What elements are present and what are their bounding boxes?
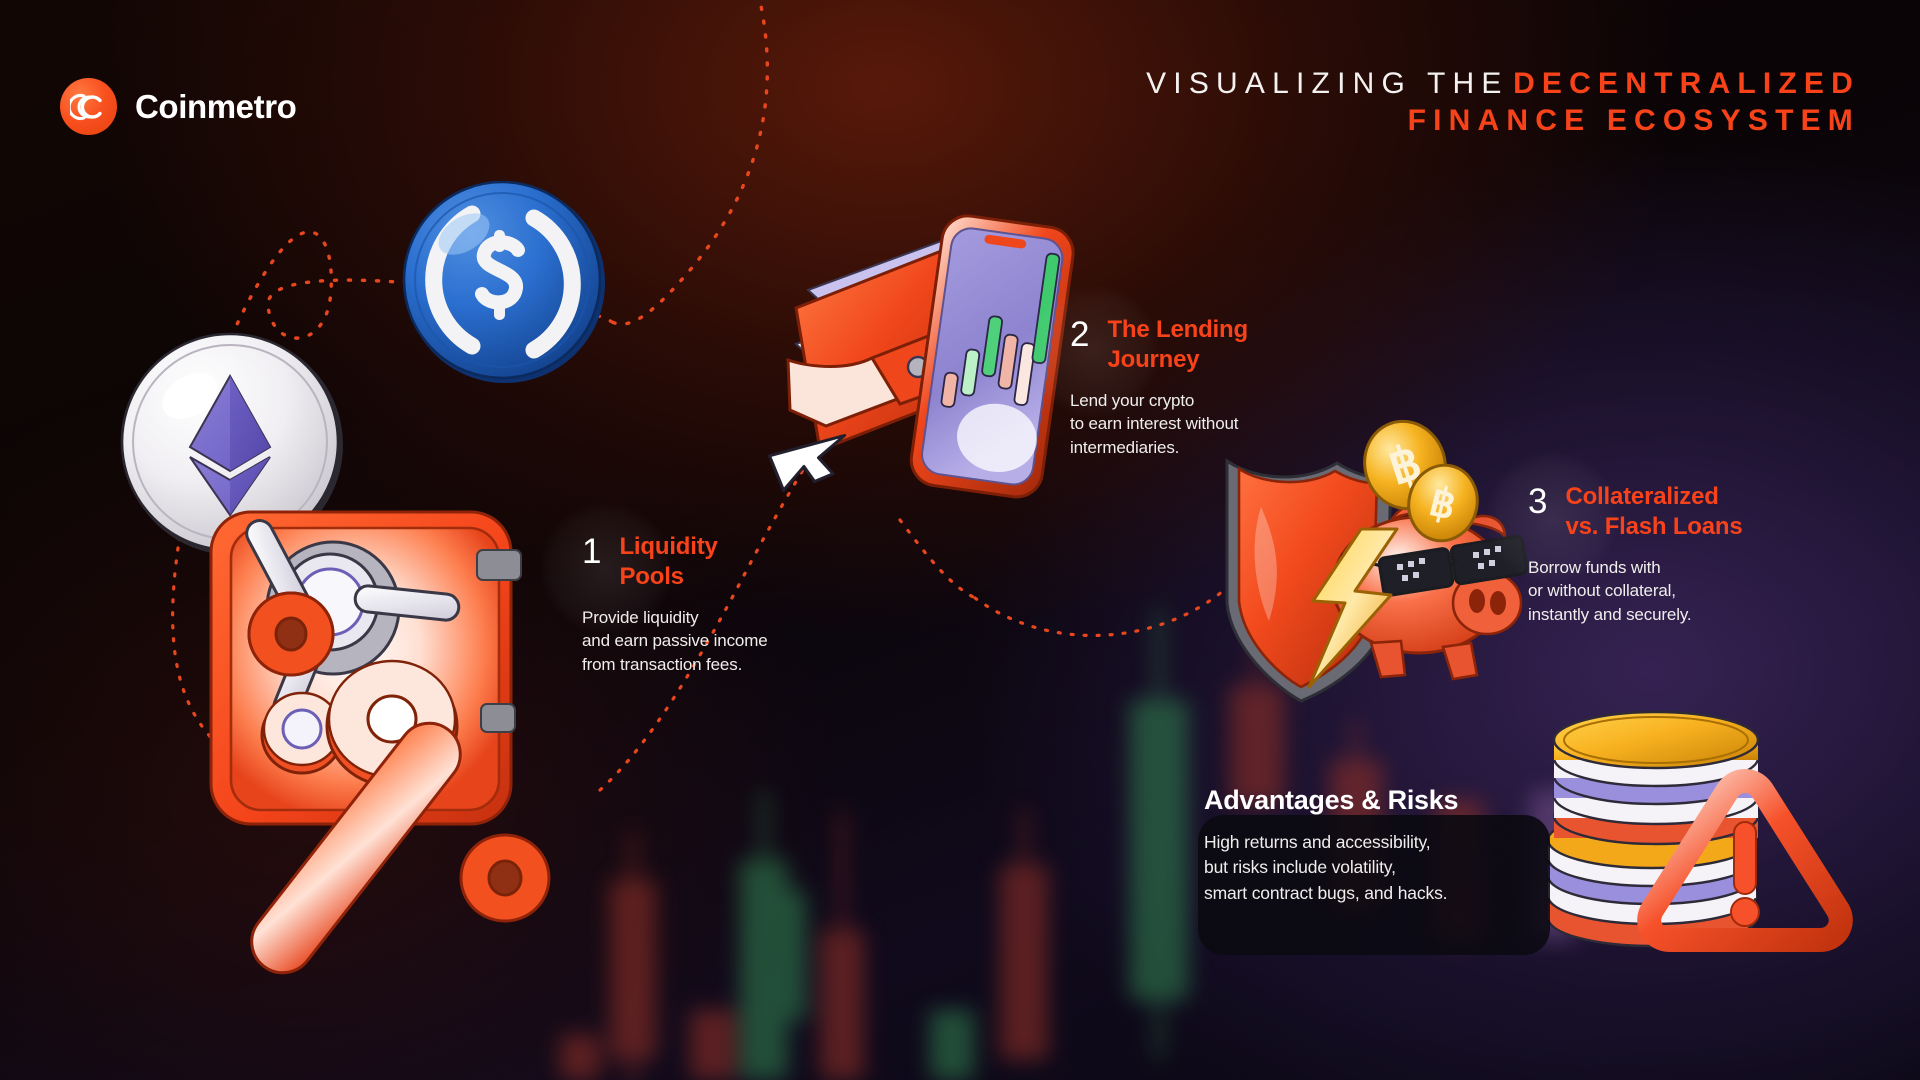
coinmetro-c-logo-icon (60, 78, 117, 135)
coin-stack-warning-icon (1530, 700, 1850, 960)
step-number-1: 1 (582, 534, 601, 569)
advantages-title: Advantages & Risks (1204, 785, 1560, 816)
step-body-1: Provide liquidity and earn passive incom… (582, 606, 882, 677)
step-title-1: Liquidity Pools (619, 532, 717, 592)
step-title-3: Collateralized vs. Flash Loans (1565, 482, 1742, 542)
wallet-phone-chart-icon (768, 212, 1088, 542)
step-callout-flash-loans: 3 Collateralized vs. Flash Loans Borrow … (1528, 482, 1848, 627)
step-body-3: Borrow funds with or without collateral,… (1528, 556, 1848, 627)
step-number-2: 2 (1070, 317, 1089, 352)
step-title-2: The Lending Journey (1107, 315, 1247, 375)
brand-logo[interactable]: Coinmetro (60, 78, 296, 135)
shield-lightning-piggybank-icon: ฿ ฿ (1205, 425, 1555, 725)
infographic-canvas: .dotp { fill:none; stroke:#e8471d; strok… (0, 0, 1920, 1080)
title-line2-orange: FINANCE ECOSYSTEM (1408, 104, 1860, 137)
title-line1-orange: DECENTRALIZED (1513, 67, 1860, 100)
step-callout-lending-journey: 2 The Lending Journey Lend your crypto t… (1070, 315, 1370, 460)
step-number-3: 3 (1528, 484, 1547, 519)
title-line1-white: VISUALIZING THE (1146, 67, 1509, 100)
safe-vault-icon (205, 498, 645, 968)
step-callout-liquidity-pools: 1 Liquidity Pools Provide liquidity and … (582, 532, 882, 677)
brand-name: Coinmetro (135, 88, 296, 126)
advantages-body: High returns and accessibility, but risk… (1204, 830, 1560, 906)
step-body-2: Lend your crypto to earn interest withou… (1070, 389, 1370, 460)
advantages-and-risks-card: Advantages & Risks High returns and acce… (1204, 785, 1560, 906)
usdc-coin-icon (400, 178, 610, 388)
page-title: VISUALIZING THE DECENTRALIZED FINANCE EC… (1146, 66, 1860, 139)
